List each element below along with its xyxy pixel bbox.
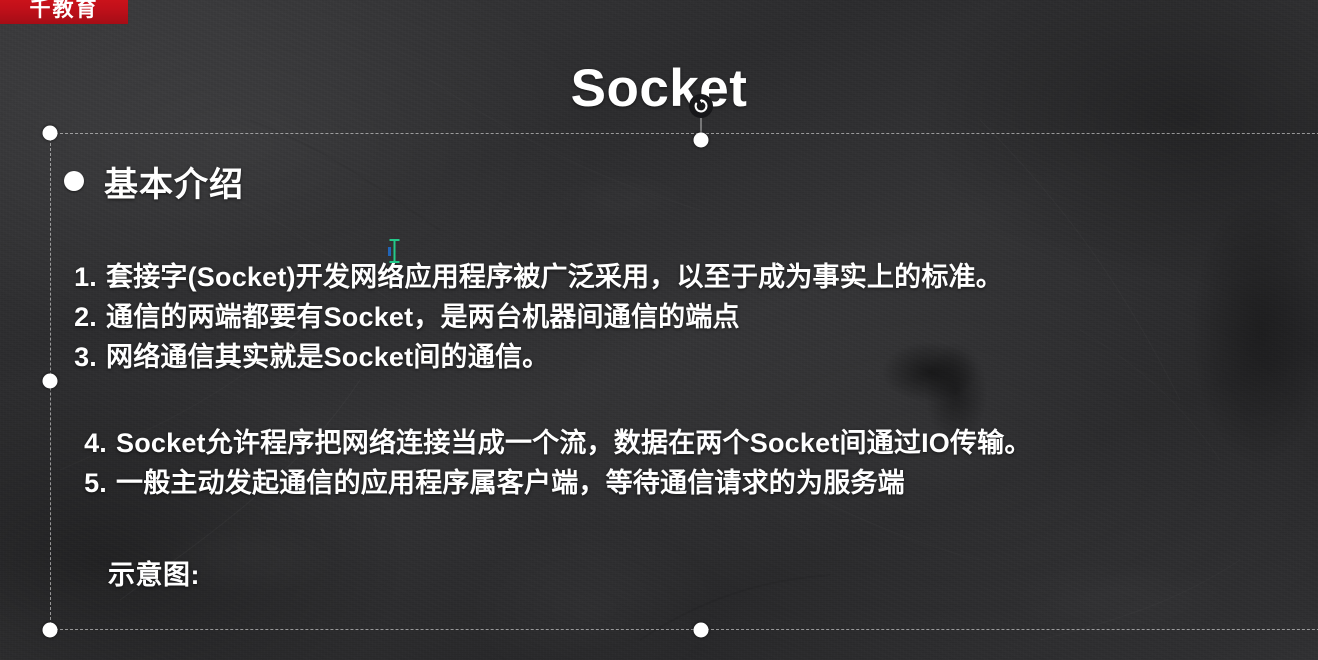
numbered-list-group-b: 4. Socket允许程序把网络连接当成一个流，数据在两个Socket间通过IO…: [72, 423, 1318, 503]
text-caret-icon: [388, 238, 401, 264]
list-item-text: 网络通信其实就是Socket间的通信。: [106, 337, 549, 377]
presentation-slide: 千教育 Socket 基本介绍 1. 套接字(Socket)开发网络应用程序被广…: [0, 0, 1318, 660]
logo-text: 千教育: [30, 0, 99, 24]
list-item: 3. 网络通信其实就是Socket间的通信。: [62, 337, 1318, 377]
list-item: 2. 通信的两端都要有Socket，是两台机器间通信的端点: [62, 297, 1318, 337]
resize-handle-bottom-left[interactable]: [43, 623, 58, 638]
list-item-text: 一般主动发起通信的应用程序属客户端，等待通信请求的为服务端: [116, 463, 905, 503]
list-item-index: 3.: [62, 337, 106, 377]
rotate-handle-icon[interactable]: [689, 94, 713, 118]
diagram-label: 示意图:: [108, 553, 1318, 592]
list-item: 4. Socket允许程序把网络连接当成一个流，数据在两个Socket间通过IO…: [72, 423, 1318, 463]
slide-title: Socket: [0, 62, 1318, 115]
list-item-text: Socket允许程序把网络连接当成一个流，数据在两个Socket间通过IO传输。: [116, 423, 1032, 463]
list-item: 1. 套接字(Socket)开发网络应用程序被广泛采用，以至于成为事实上的标准。: [62, 257, 1318, 297]
numbered-list-group-a: 1. 套接字(Socket)开发网络应用程序被广泛采用，以至于成为事实上的标准。…: [62, 257, 1318, 377]
resize-handle-top-left[interactable]: [43, 126, 58, 141]
section-heading: 基本介绍: [64, 155, 1318, 207]
list-item-index: 4.: [72, 423, 116, 463]
resize-handle-top-center[interactable]: [694, 133, 709, 148]
list-item-text: 通信的两端都要有Socket，是两台机器间通信的端点: [106, 297, 740, 337]
slide-body-content[interactable]: 基本介绍 1. 套接字(Socket)开发网络应用程序被广泛采用，以至于成为事实…: [50, 133, 1318, 630]
resize-handle-bottom-center[interactable]: [694, 623, 709, 638]
list-item: 5. 一般主动发起通信的应用程序属客户端，等待通信请求的为服务端: [72, 463, 1318, 503]
list-item-index: 1.: [62, 257, 106, 297]
list-item-text: 套接字(Socket)开发网络应用程序被广泛采用，以至于成为事实上的标准。: [106, 257, 1003, 297]
list-item-index: 5.: [72, 463, 116, 503]
channel-logo-badge: 千教育: [0, 0, 128, 24]
bullet-dot-icon: [64, 171, 84, 191]
list-item-index: 2.: [62, 297, 106, 337]
resize-handle-middle-left[interactable]: [43, 374, 58, 389]
section-heading-label: 基本介绍: [104, 157, 244, 206]
